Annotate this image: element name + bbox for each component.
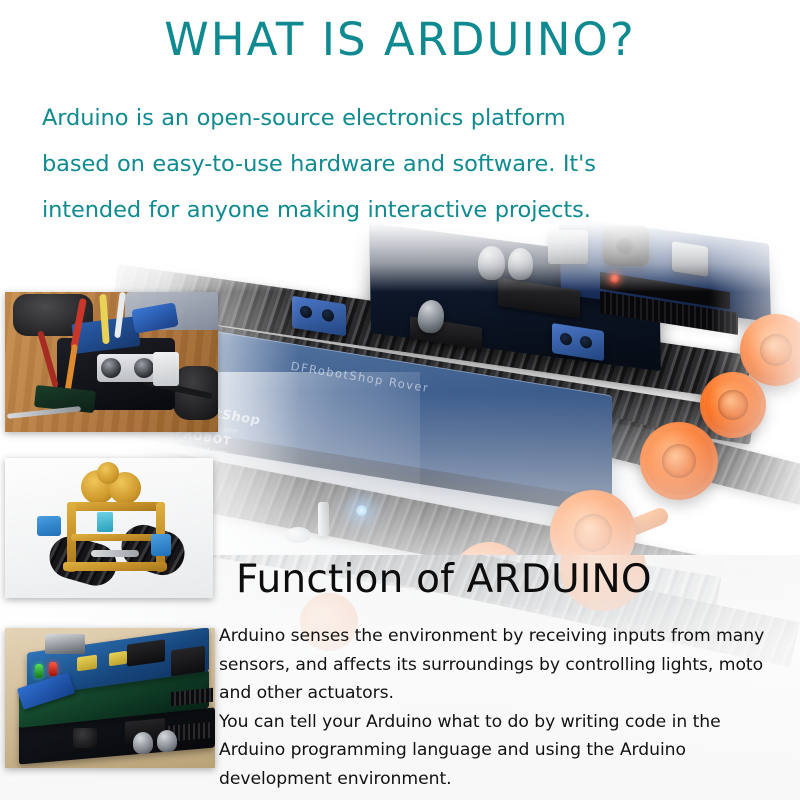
thumbnail-arduino-shield-stack[interactable] <box>5 628 215 768</box>
intro-line-2: based on easy-to-use hardware and softwa… <box>42 141 742 187</box>
body-line-3: and other actuators. <box>219 679 800 708</box>
red-led <box>49 662 57 676</box>
cyan-component <box>97 512 113 532</box>
ic-chip-2 <box>171 646 205 677</box>
brass-frame-top <box>67 502 165 511</box>
brass-gear-3 <box>97 462 119 484</box>
intro-paragraph: Arduino is an open-source electronics pl… <box>42 95 742 233</box>
thumbnail-image-2 <box>5 458 213 598</box>
barrel-jack <box>73 728 97 748</box>
ultrasonic-sensor <box>97 354 159 382</box>
header-section: WHAT IS ARDUINO? Arduino is an open-sour… <box>0 0 800 62</box>
yellow-capacitor-1 <box>77 655 97 672</box>
poster-root: WHAT IS ARDUINO? Arduino is an open-sour… <box>0 0 800 800</box>
electrolytic-cap-2 <box>157 730 177 752</box>
terminal-hole <box>322 308 334 322</box>
intro-line-1: Arduino is an open-source electronics pl… <box>42 95 742 141</box>
thumbnail-gold-tank-robot[interactable] <box>5 458 213 598</box>
body-line-5: Arduino programming language and using t… <box>219 736 800 765</box>
white-connector <box>153 352 179 386</box>
drive-shaft <box>91 550 139 557</box>
thumbnail-image-1 <box>5 292 218 432</box>
brass-frame-bottom <box>63 562 167 571</box>
page-title: WHAT IS ARDUINO? <box>0 0 800 62</box>
electrolytic-cap-1 <box>133 732 153 754</box>
terminal-hole <box>300 305 312 319</box>
body-line-2: sensors, and affects its surroundings by… <box>219 651 800 680</box>
usb-port <box>45 634 85 654</box>
brass-frame-middle <box>71 534 163 541</box>
thumbnail-image-3 <box>5 628 215 768</box>
yellow-capacitor-2 <box>109 651 127 667</box>
body-line-4: You can tell your Arduino what to do by … <box>219 708 800 737</box>
thumbnail-robot-ultrasonic[interactable] <box>5 292 218 432</box>
blue-sensor-module-right <box>151 534 171 556</box>
section-title: Function of ARDUINO <box>236 560 652 599</box>
body-line-6: development environment. <box>219 765 800 794</box>
terminal-hole <box>580 335 592 349</box>
body-line-1: Arduino senses the environment by receiv… <box>219 622 800 651</box>
intro-line-3: intended for anyone making interactive p… <box>42 187 742 233</box>
terminal-hole <box>560 332 572 346</box>
blue-sensor-module-left <box>37 516 61 536</box>
green-led <box>35 664 43 678</box>
section-body: Arduino senses the environment by receiv… <box>219 622 800 793</box>
